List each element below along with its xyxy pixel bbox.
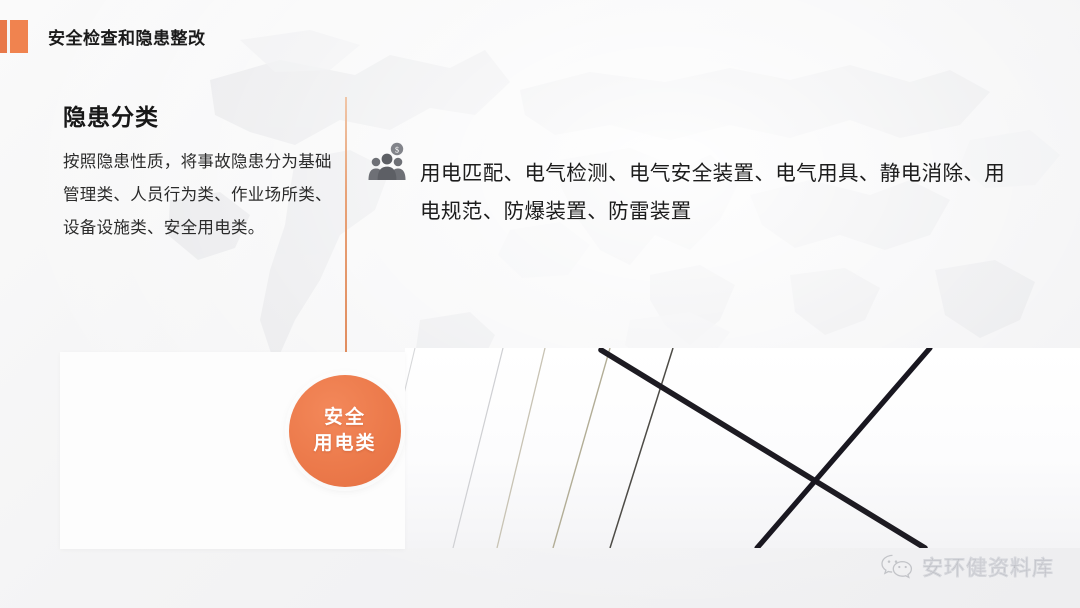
people-money-icon: $ [367,140,409,182]
slide-canvas: 安全检查和隐患整改 隐患分类 按照隐患性质，将事故隐患分为基础管理类、人员行为类… [0,0,1080,608]
left-panel-body: 按照隐患性质，将事故隐患分为基础管理类、人员行为类、作业场所类、设备设施类、安全… [63,146,335,245]
content-text: 用电匹配、电气检测、电气安全装置、电气用具、静电消除、用电规范、防爆装置、防雷装… [420,155,1020,231]
power-lines-photo [405,348,1080,548]
badge-line-2: 用电类 [313,431,376,457]
header-accent-bar [0,20,28,53]
category-badge[interactable]: 安全 用电类 [289,375,401,487]
svg-text:$: $ [395,145,399,154]
left-panel: 隐患分类 按照隐患性质，将事故隐患分为基础管理类、人员行为类、作业场所类、设备设… [63,98,335,245]
watermark: 安环健资料库 [880,552,1054,582]
page-title: 安全检查和隐患整改 [48,24,206,49]
accent-bar-segment-left [0,20,7,53]
watermark-text: 安环健资料库 [922,552,1054,582]
wechat-icon [880,553,914,581]
accent-bar-segment-right [10,20,28,53]
badge-line-1: 安全 [324,405,366,431]
connector-line [345,97,347,375]
left-panel-title: 隐患分类 [63,98,335,132]
